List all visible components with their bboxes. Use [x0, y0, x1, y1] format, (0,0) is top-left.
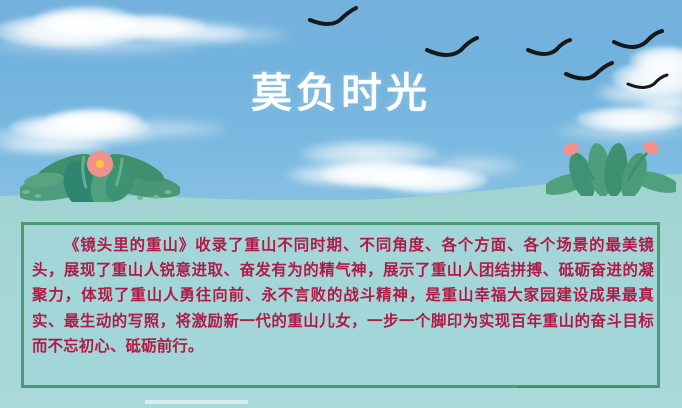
flower-bud-icon: [642, 140, 661, 156]
poster-canvas: 莫负时光 《镜头里的重山》收录了重山不同时期、不同角度、各个方面、各个场景的最美…: [0, 0, 682, 408]
description-text: 《镜头里的重山》收录了重山不同时期、不同角度、各个方面、各个场景的最美镜头，展现…: [32, 233, 654, 359]
leaf-speck: [164, 190, 172, 194]
base-highlight-bar: [145, 400, 248, 404]
signature-rule: [518, 386, 640, 388]
leaf-speck: [153, 195, 159, 199]
grass-bush-right: [546, 140, 676, 196]
poster-title: 莫负时光: [0, 72, 682, 115]
leaf-speck: [137, 196, 143, 200]
description-box: 《镜头里的重山》收录了重山不同时期、不同角度、各个方面、各个场景的最美镜头，展现…: [21, 222, 660, 388]
flower-center-icon: [96, 160, 104, 168]
flower-bush-left: [20, 140, 180, 202]
leaf-speck: [22, 190, 30, 194]
leaf-speck: [35, 194, 41, 198]
